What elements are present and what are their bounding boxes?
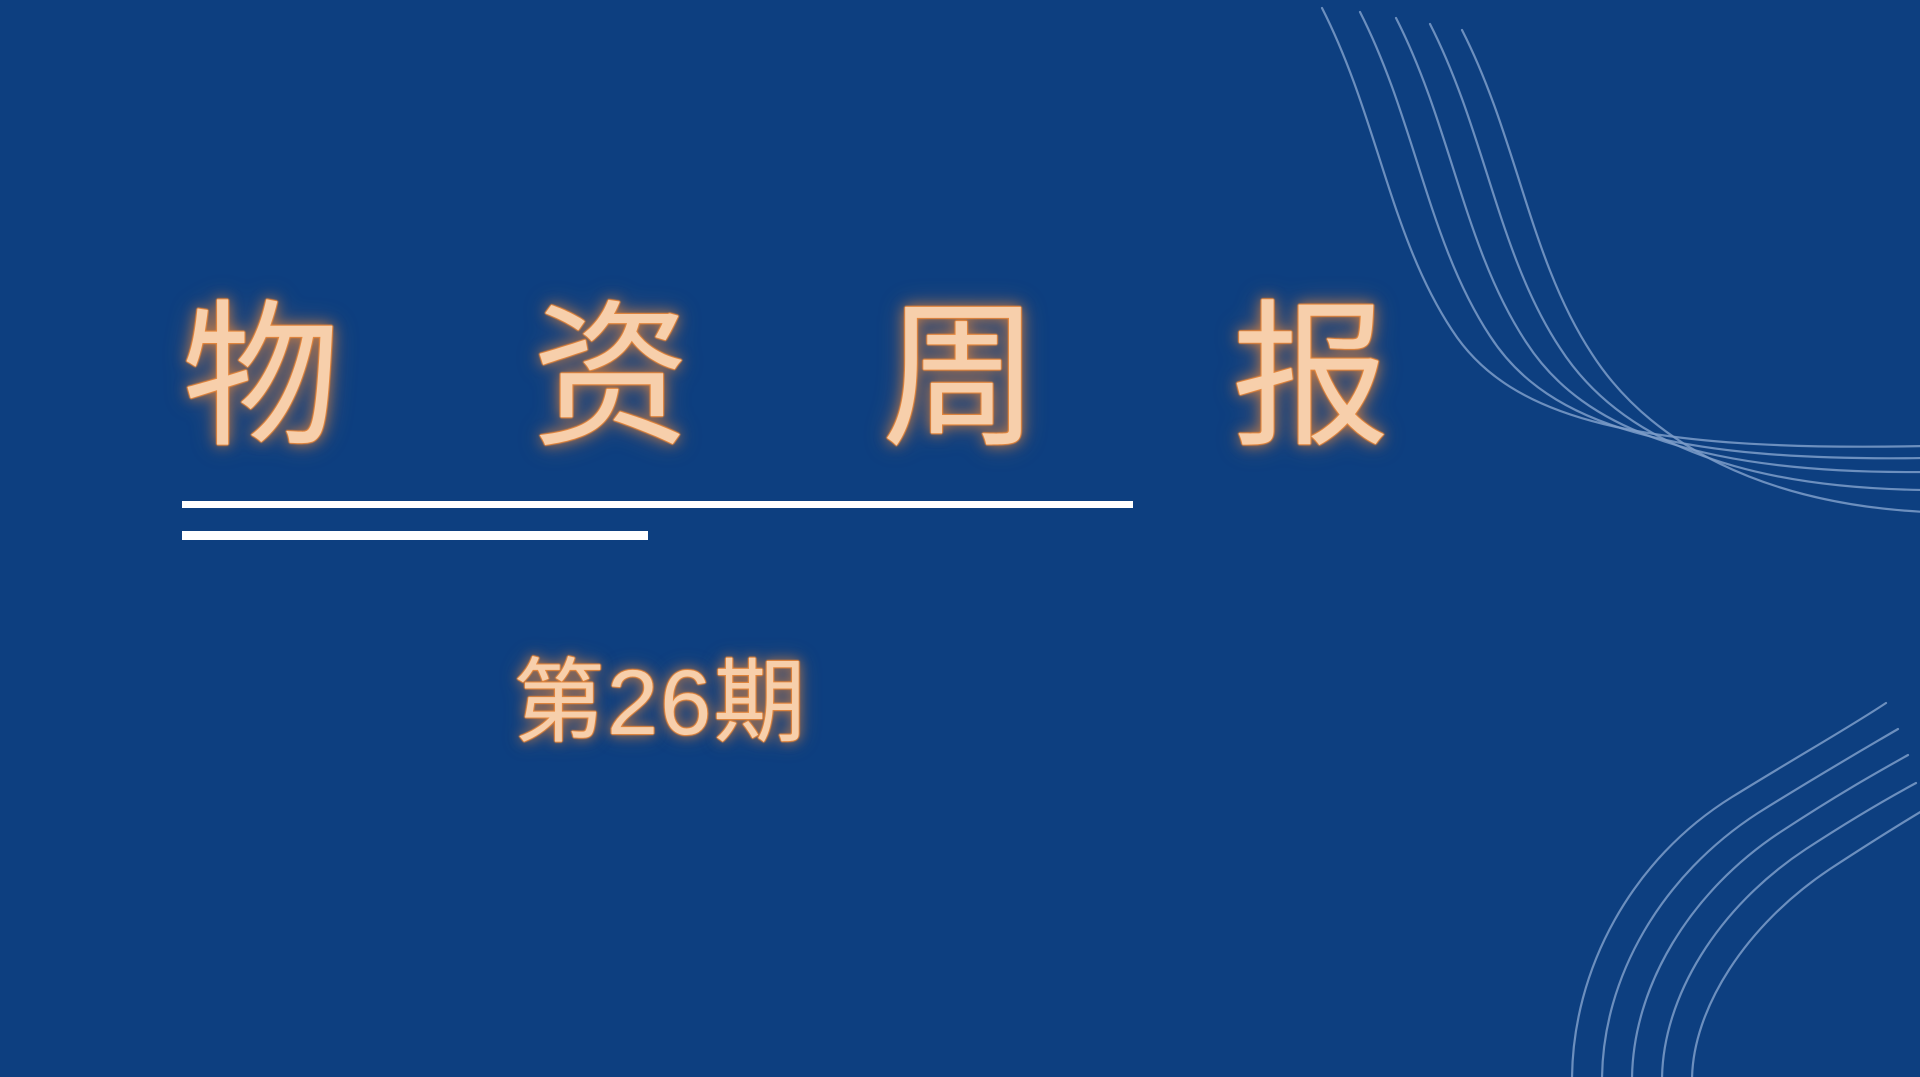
wave-line-5	[1462, 30, 1920, 512]
wave-line-3	[1632, 755, 1908, 1077]
wave-line-4	[1430, 24, 1920, 490]
wave-line-4	[1662, 783, 1916, 1077]
wave-line-3	[1396, 18, 1920, 472]
title-underline-short	[182, 531, 648, 540]
wave-lines-bottom-right-svg	[1280, 597, 1920, 1077]
wave-line-5	[1692, 811, 1920, 1077]
title-underline-long	[182, 501, 1133, 508]
title-block: 物 资 周 报	[182, 296, 1182, 460]
title-slide: 物 资 周 报 第26期	[0, 0, 1920, 1077]
page-title: 物 资 周 报	[182, 296, 1182, 460]
issue-number-subtitle: 第26期	[513, 651, 807, 757]
wave-line-1	[1572, 703, 1886, 1077]
wave-line-2	[1602, 729, 1898, 1077]
wave-lines-bottom-right-decoration	[1280, 597, 1920, 1077]
